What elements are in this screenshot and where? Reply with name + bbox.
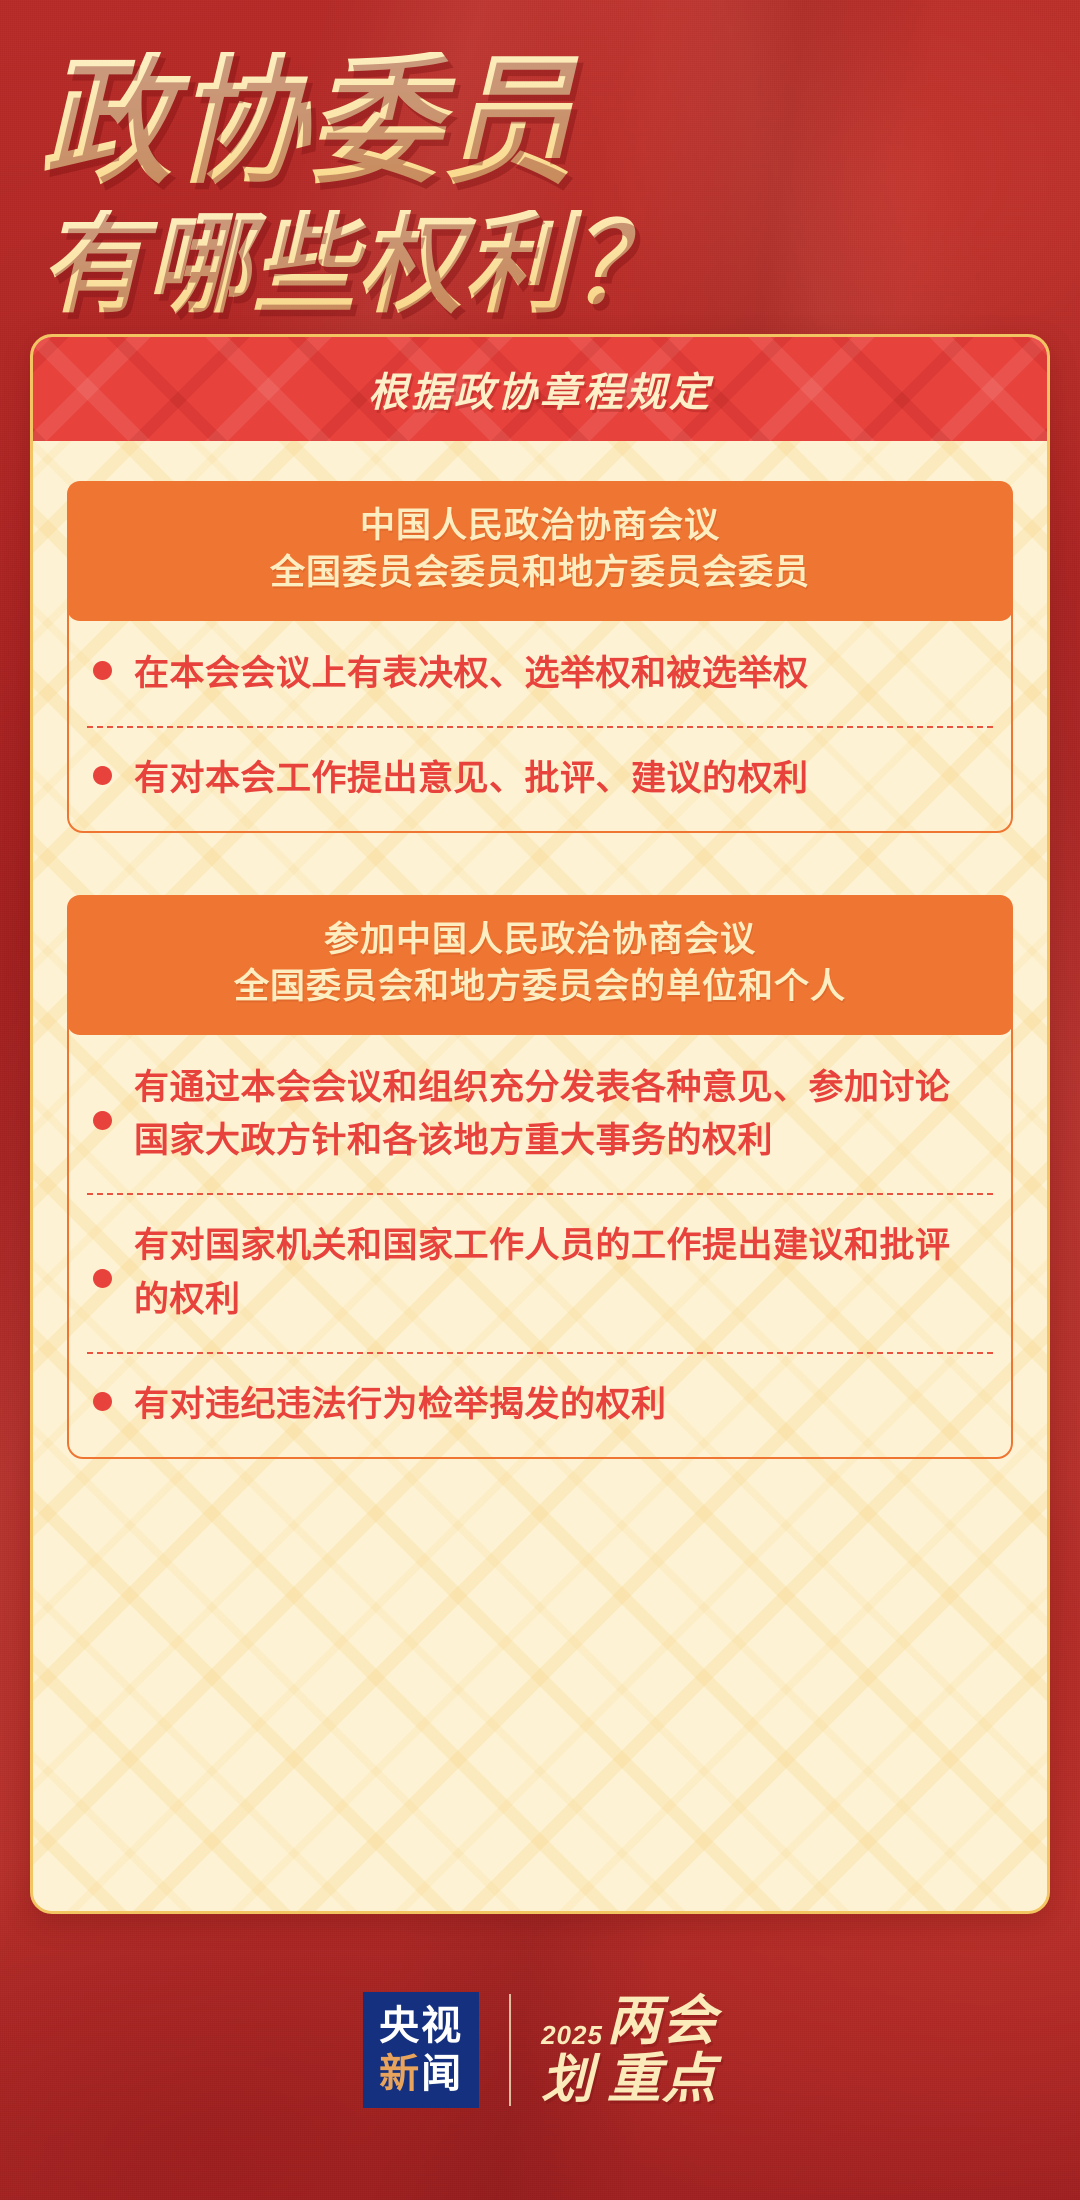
card-header-band: 根据政协章程规定 [33,337,1047,441]
bullet-dot-icon [93,1111,112,1130]
section-1-header: 中国人民政治协商会议 全国委员会委员和地方委员会委员 [67,481,1013,621]
section-2-heading-line-2: 全国委员会和地方委员会的单位和个人 [97,964,983,1011]
bullet-dot-icon [93,661,112,680]
section-committee-members: 中国人民政治协商会议 全国委员会委员和地方委员会委员 在本会会议上有表决权、选举… [67,481,1013,833]
brand-lianghui-huazhongdian: 2025 划 两会 重点 [541,1994,717,2106]
list-item-text: 有对国家机关和国家工作人员的工作提出建议和批评的权利 [134,1219,985,1325]
section-1-heading-line-1: 中国人民政治协商会议 [97,503,983,550]
brand-left-column: 2025 划 [541,2022,603,2106]
list-item: 有对违纪违法行为检举揭发的权利 [69,1352,1011,1457]
list-item: 有通过本会会议和组织充分发表各种意见、参加讨论国家大政方针和各该地方重大事务的权… [69,1035,1011,1193]
page-title-line-1: 政协委员 [40,52,1040,192]
page-title: 政协委员 有哪些权利？ [40,52,1040,314]
section-2-header: 参加中国人民政治协商会议 全国委员会和地方委员会的单位和个人 [67,895,1013,1035]
list-item: 在本会会议上有表决权、选举权和被选举权 [69,621,1011,726]
bullet-dot-icon [93,1269,112,1288]
brand-right-column: 两会 重点 [607,1994,717,2106]
card-header-title: 根据政协章程规定 [368,360,712,418]
list-item-text: 有通过本会会议和组织充分发表各种意见、参加讨论国家大政方针和各该地方重大事务的权… [134,1061,985,1167]
footer: 央视 新闻 2025 划 两会 重点 [0,1985,1080,2115]
section-1-items: 在本会会议上有表决权、选举权和被选举权 有对本会工作提出意见、批评、建议的权利 [69,621,1011,831]
brand-text-lianghui: 两会 [607,1994,717,2048]
list-item-text: 有对违纪违法行为检举揭发的权利 [134,1378,667,1431]
cctv-logo-char-xin: 新 [379,2052,421,2096]
list-item-text: 有对本会工作提出意见、批评、建议的权利 [134,752,809,805]
brand-text-zhongdian: 重点 [607,2052,717,2106]
card-body: 中国人民政治协商会议 全国委员会委员和地方委员会委员 在本会会议上有表决权、选举… [33,441,1047,1911]
cctv-logo-top-text: 央视 [379,2006,463,2046]
bullet-dot-icon [93,766,112,785]
content-card: 根据政协章程规定 中国人民政治协商会议 全国委员会委员和地方委员会委员 在本会会… [30,334,1050,1914]
bullet-dot-icon [93,1392,112,1411]
footer-divider [509,1994,511,2106]
list-item: 有对国家机关和国家工作人员的工作提出建议和批评的权利 [69,1193,1011,1351]
list-item-text: 在本会会议上有表决权、选举权和被选举权 [134,647,809,700]
section-participating-units: 参加中国人民政治协商会议 全国委员会和地方委员会的单位和个人 有通过本会会议和组… [67,895,1013,1459]
cctv-news-logo: 央视 新闻 [363,1992,479,2108]
page-title-line-2: 有哪些权利？ [40,210,1040,320]
brand-year: 2025 [541,2022,603,2048]
section-2-items: 有通过本会会议和组织充分发表各种意见、参加讨论国家大政方针和各该地方重大事务的权… [69,1035,1011,1457]
cctv-logo-bottom-text: 新闻 [379,2054,463,2094]
section-2-heading-line-1: 参加中国人民政治协商会议 [97,917,983,964]
brand-char-hua: 划 [541,2054,603,2106]
list-item: 有对本会工作提出意见、批评、建议的权利 [69,726,1011,831]
section-1-heading-line-2: 全国委员会委员和地方委员会委员 [97,550,983,597]
cctv-logo-char-wen: 闻 [421,2052,463,2096]
